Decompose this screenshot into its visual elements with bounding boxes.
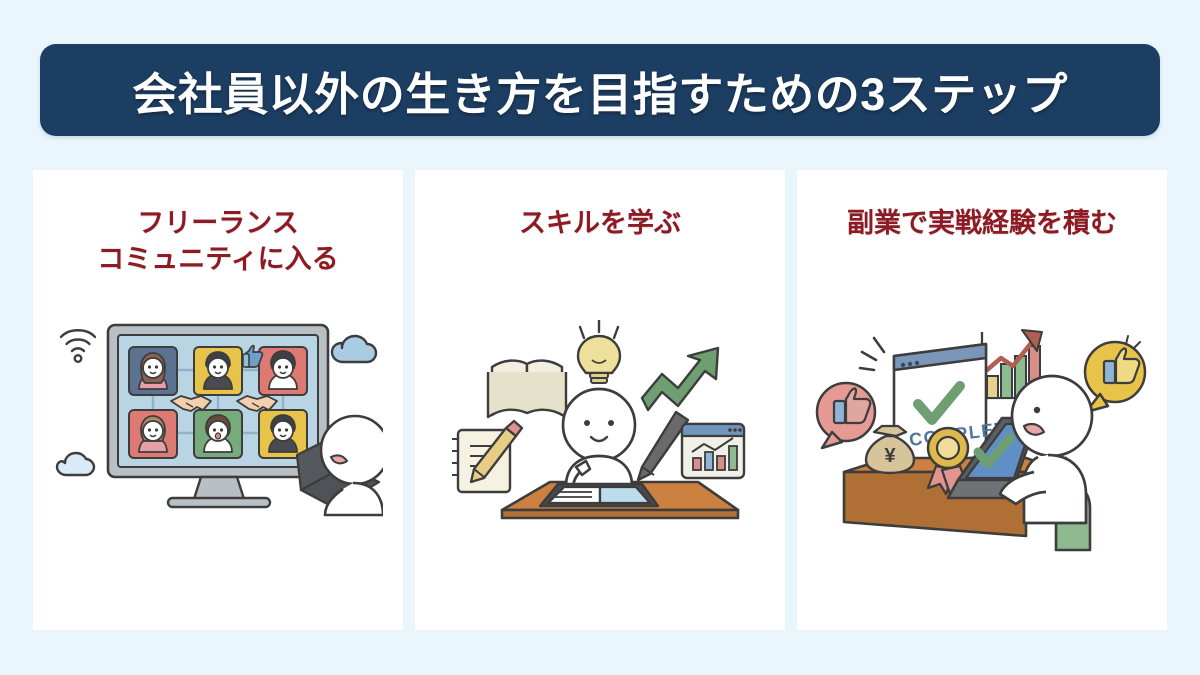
page-title: 会社員以外の生き方を目指すための3ステップ xyxy=(132,58,1068,123)
participant-tile-2 xyxy=(194,347,242,395)
thumbs-up-bubble-right xyxy=(1085,336,1145,412)
step-card-1-illustration xyxy=(33,307,403,572)
thumbs-up-bubble-left xyxy=(817,383,875,448)
participant-tile-6 xyxy=(259,410,307,458)
yen-symbol: ¥ xyxy=(884,445,896,467)
sparkle-lines xyxy=(860,338,884,370)
participant-tile-1 xyxy=(129,347,177,395)
online-community-illustration xyxy=(53,315,383,565)
step-card-1: フリーランス コミュニティに入る xyxy=(33,170,403,630)
participant-tile-3 xyxy=(259,347,307,395)
pen-icon xyxy=(638,412,688,480)
step-card-3: 副業で実戦経験を積む xyxy=(797,170,1167,630)
participant-tile-4 xyxy=(129,410,177,458)
notepad-pencil-icon xyxy=(452,421,522,492)
open-book-icon xyxy=(488,360,566,416)
participant-tile-5 xyxy=(194,410,242,458)
slide-root: 会社員以外の生き方を目指すための3ステップ フリーランス コミュニティに入る xyxy=(0,0,1200,675)
step-card-3-heading: 副業で実戦経験を積む xyxy=(847,206,1117,242)
lightbulb-icon xyxy=(578,320,620,383)
open-notebook xyxy=(540,484,658,506)
title-banner: 会社員以外の生き方を目指すための3ステップ xyxy=(40,44,1160,136)
step-card-2-heading: スキルを学ぶ xyxy=(519,206,681,242)
step-card-2: スキルを学ぶ xyxy=(415,170,785,630)
growth-arrow-icon xyxy=(642,348,718,410)
wifi-icon xyxy=(61,330,95,362)
side-business-illustration: COMPLETE xyxy=(812,320,1152,560)
studying-illustration xyxy=(444,320,756,560)
step-card-3-illustration: COMPLETE xyxy=(797,307,1167,572)
cloud-icon-bottom xyxy=(57,453,94,475)
step-card-2-illustration xyxy=(415,307,785,572)
person-writing xyxy=(563,389,635,490)
chart-window-icon xyxy=(682,424,744,478)
cloud-icon-top xyxy=(332,336,376,362)
step-card-list: フリーランス コミュニティに入る xyxy=(33,170,1167,630)
step-card-1-heading: フリーランス コミュニティに入る xyxy=(97,206,338,277)
